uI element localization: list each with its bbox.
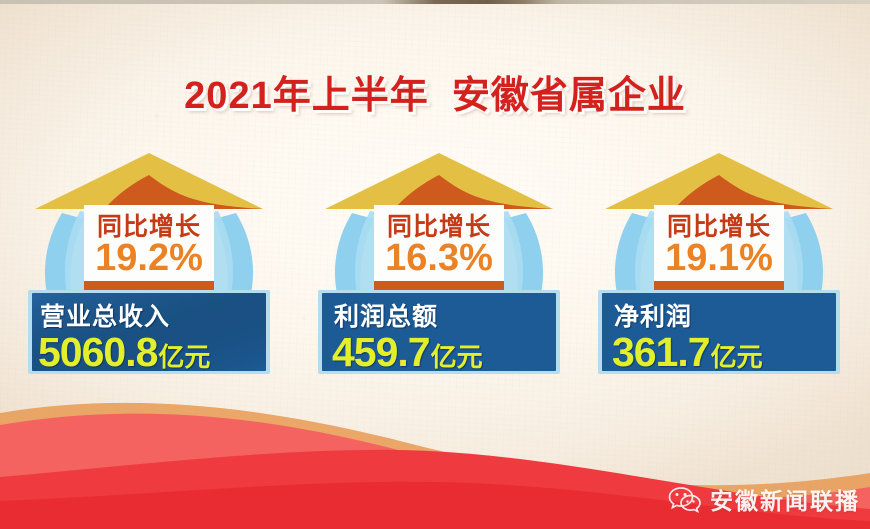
- metric-unit: 亿元: [158, 342, 210, 372]
- metric-number: 5060.8: [38, 329, 157, 375]
- metric-number: 459.7: [332, 329, 430, 375]
- growth-value: 16.3%: [348, 237, 530, 280]
- growth-value: 19.2%: [58, 237, 240, 280]
- metric-value: 459.7亿元: [332, 329, 558, 376]
- page-title: 2021年上半年 安徽省属企业: [0, 64, 870, 119]
- metric-value: 361.7亿元: [612, 329, 838, 376]
- metric-number: 361.7: [612, 329, 710, 375]
- top-video-strip: [0, 0, 870, 4]
- growth-value: 19.1%: [628, 237, 810, 280]
- infographic-screenshot: 2021年上半年 安徽省属企业 同比增: [0, 0, 870, 529]
- stat-card-net-profit: 同比增长 19.1% 净利润 361.7亿元: [588, 145, 850, 385]
- metric-name: 利润总额: [334, 297, 554, 333]
- metric-unit: 亿元: [711, 342, 763, 372]
- metric-name: 净利润: [614, 297, 834, 333]
- metric-value: 5060.8亿元: [38, 329, 264, 376]
- wechat-icon: [668, 485, 702, 513]
- metric-name: 营业总收入: [40, 297, 260, 333]
- watermark-text: 安徽新闻联播: [710, 482, 860, 516]
- stat-card-revenue: 同比增长 19.2% 营业总收入 5060.8亿元: [18, 145, 280, 385]
- stat-card-total-profit: 同比增长 16.3% 利润总额 459.7亿元: [308, 145, 570, 385]
- channel-watermark: 安徽新闻联播: [668, 482, 860, 516]
- metric-unit: 亿元: [431, 342, 483, 372]
